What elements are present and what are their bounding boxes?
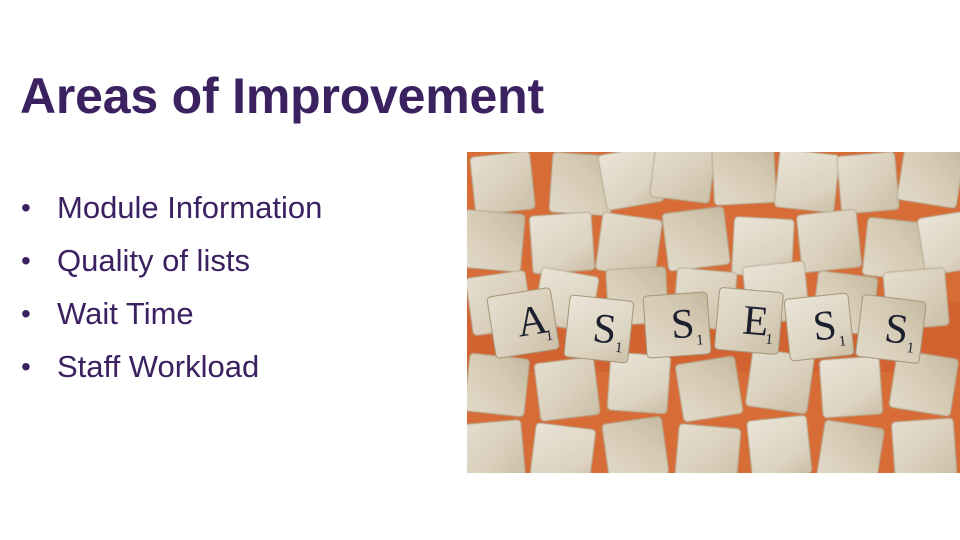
scrabble-tiles-assess-photo: A 1 S 1 S 1 xyxy=(467,152,960,473)
bullet-icon: • xyxy=(21,347,41,387)
bullet-icon: • xyxy=(21,188,41,228)
list-item-label: Module Information xyxy=(57,190,322,225)
bullet-list: • Module Information • Quality of lists … xyxy=(20,188,440,400)
list-item: • Wait Time xyxy=(20,294,440,347)
list-item: • Staff Workload xyxy=(20,347,440,400)
list-item: • Quality of lists xyxy=(20,241,440,294)
list-item-label: Wait Time xyxy=(57,296,194,331)
list-item-label: Staff Workload xyxy=(57,349,259,384)
bullet-icon: • xyxy=(21,241,41,281)
slide-canvas: Areas of Improvement • Module Informatio… xyxy=(0,0,960,540)
photo-illustration: A 1 S 1 S 1 xyxy=(467,152,960,473)
list-item: • Module Information xyxy=(20,188,440,241)
list-item-label: Quality of lists xyxy=(57,243,250,278)
page-title: Areas of Improvement xyxy=(20,67,660,125)
bullet-icon: • xyxy=(21,294,41,334)
